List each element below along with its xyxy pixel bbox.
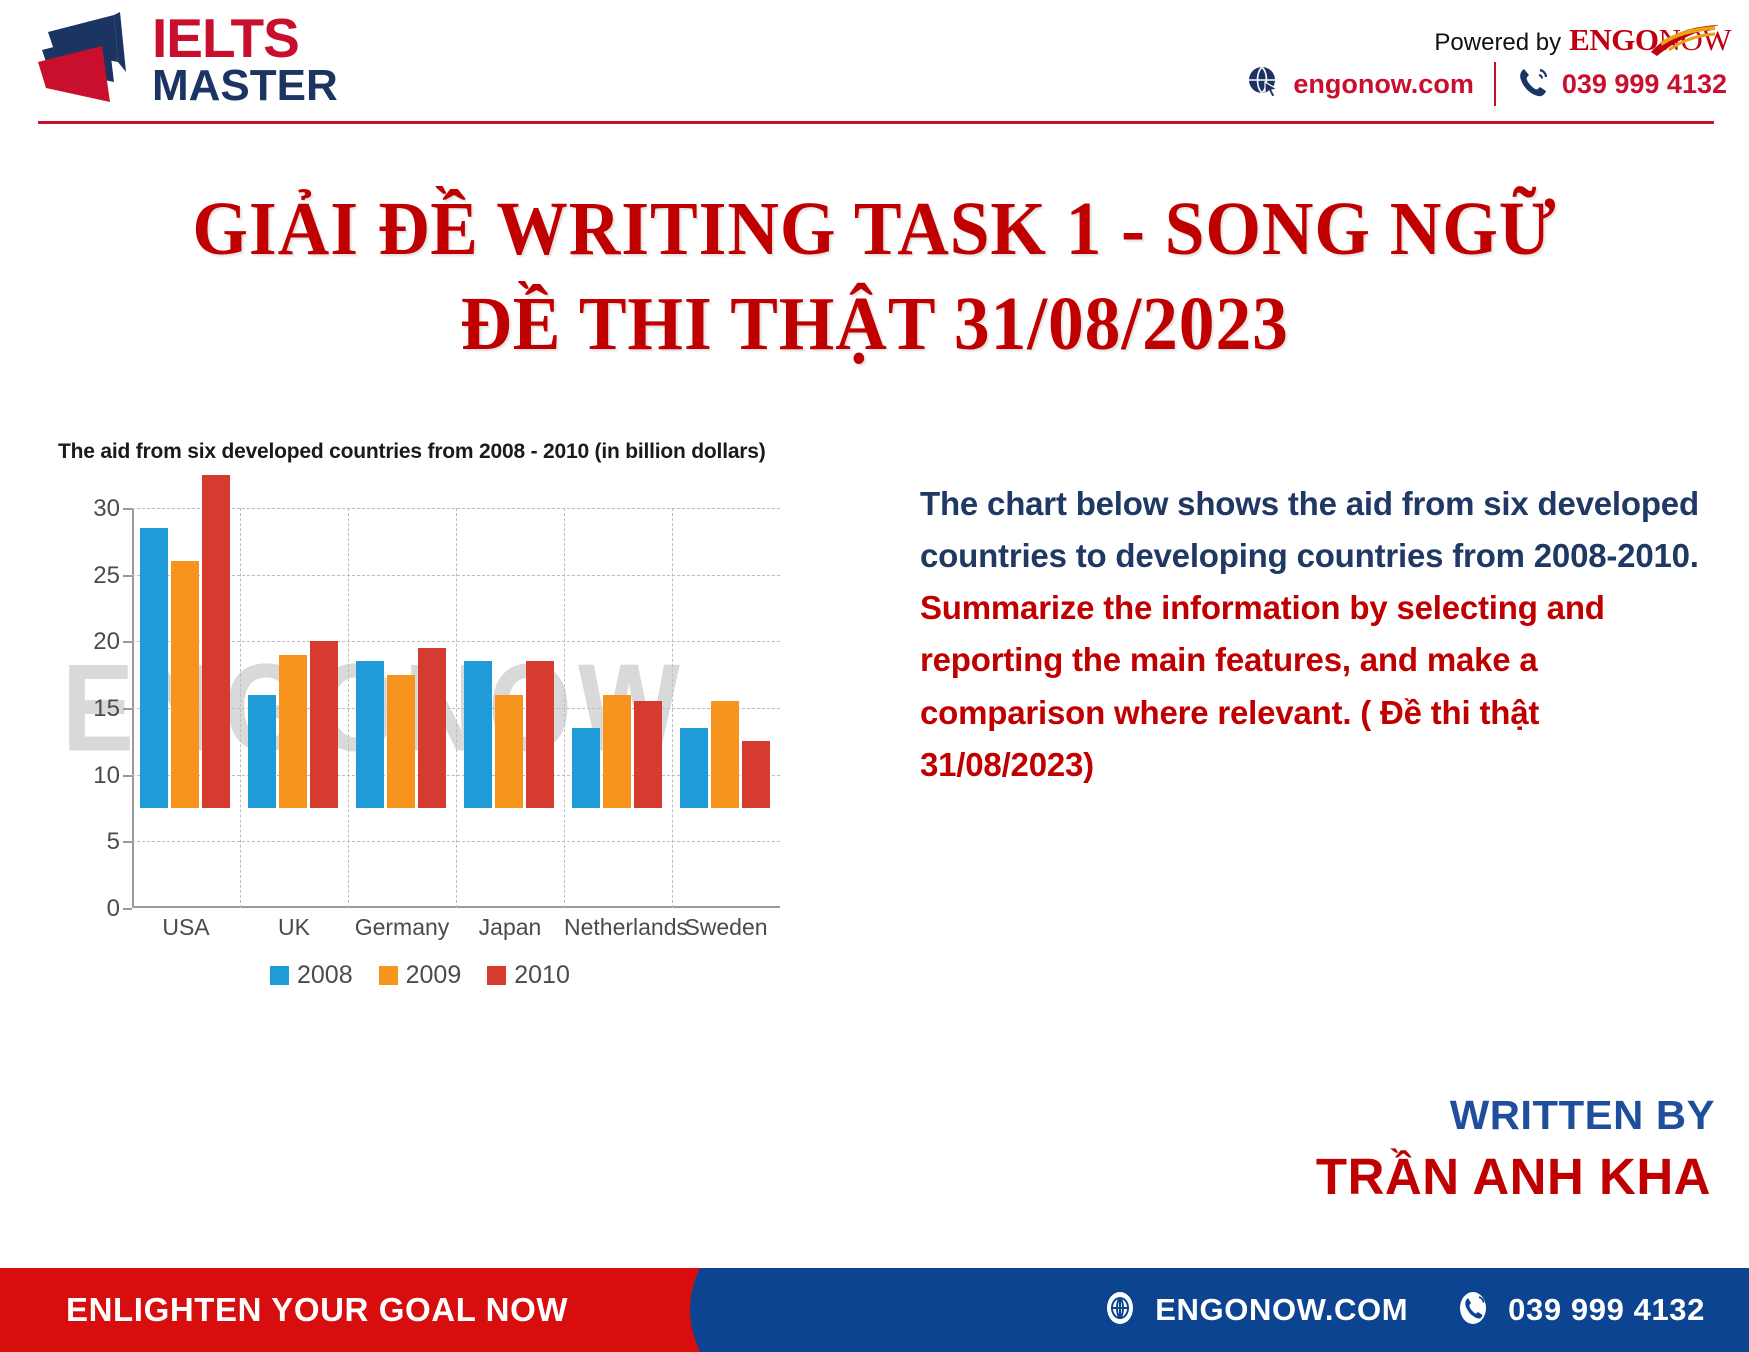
chart-y-tick-mark	[123, 641, 132, 643]
chart-bar-2008-sweden	[680, 728, 708, 808]
chart-x-label-germany: Germany	[348, 914, 456, 941]
globe-icon	[1101, 1289, 1139, 1332]
powered-by-block: Powered by ENGONOW	[1434, 22, 1731, 58]
chart-bar-2008-netherlands	[572, 728, 600, 808]
phone-icon	[1454, 1289, 1492, 1332]
footer-slogan: ENLIGHTEN YOUR GOAL NOW	[66, 1268, 568, 1352]
chart-plot-area: 051015202530USAUKGermanyJapanNetherlands…	[132, 508, 780, 808]
legend-swatch-2009	[379, 966, 398, 985]
brand-logo[interactable]: IELTS MASTER	[36, 10, 338, 110]
chart-legend-item-2009[interactable]: 2009	[379, 961, 462, 990]
footer-phone-text: 039 999 4132	[1508, 1292, 1705, 1328]
written-by-label: WRITTEN BY	[1312, 1092, 1715, 1139]
chart-bar-2009-netherlands	[603, 695, 631, 808]
chart-bar-2008-uk	[248, 695, 276, 808]
chart-bar-2010-usa	[202, 475, 230, 808]
chart-x-label-netherlands: Netherlands	[564, 914, 672, 941]
chart-bar-group	[464, 408, 554, 808]
chart-x-label-sweden: Sweden	[672, 914, 780, 941]
chart-bars-layer	[132, 408, 780, 808]
chart-bar-group	[140, 408, 230, 808]
chart-legend: 200820092010	[270, 961, 570, 990]
chart-y-tick-mark	[123, 775, 132, 777]
chart-bar-group	[572, 408, 662, 808]
chart-x-label-uk: UK	[240, 914, 348, 941]
page-title: GIẢI ĐỀ WRITING TASK 1 - SONG NGỮ ĐỀ THI…	[0, 182, 1749, 372]
task-prompt: The chart below shows the aid from six d…	[920, 478, 1710, 791]
chart-bar-2009-germany	[387, 675, 415, 808]
header-rule	[38, 121, 1714, 124]
chart-bar-2010-sweden	[742, 741, 770, 808]
chart-y-tick-mark	[123, 841, 132, 843]
chart-legend-item-2010[interactable]: 2010	[487, 961, 570, 990]
legend-label-2008: 2008	[297, 961, 353, 990]
engonow-bold-part: ENGO	[1569, 22, 1658, 57]
powered-by-label: Powered by	[1434, 29, 1561, 57]
legend-swatch-2008	[270, 966, 289, 985]
chart-x-label-japan: Japan	[456, 914, 564, 941]
author-credit: WRITTEN BY TRẦN ANH KHA	[1316, 1092, 1711, 1206]
header-phone[interactable]: 039 999 4132	[1516, 65, 1727, 104]
chart-x-label-usa: USA	[132, 914, 240, 941]
chart-bar-2010-uk	[310, 641, 338, 808]
chart-bar-2008-germany	[356, 661, 384, 808]
chart-bar-2008-japan	[464, 661, 492, 808]
header-contact-row: engonow.com 039 999 4132	[1247, 62, 1727, 106]
legend-label-2009: 2009	[406, 961, 462, 990]
chart-bar-group	[356, 408, 446, 808]
chart-bar-2010-netherlands	[634, 701, 662, 808]
page-header: IELTS MASTER Powered by ENGONOW engonow.	[0, 0, 1749, 124]
legend-swatch-2010	[487, 966, 506, 985]
page-footer: ENLIGHTEN YOUR GOAL NOW ENGONOW.COM 039	[0, 1268, 1749, 1352]
bar-chart-figure: The aid from six developed countries fro…	[0, 395, 812, 1005]
header-divider	[1494, 62, 1496, 106]
chart-bar-2009-japan	[495, 695, 523, 808]
swoosh-icon	[1649, 24, 1723, 58]
legend-label-2010: 2010	[514, 961, 570, 990]
chart-bar-2010-japan	[526, 661, 554, 808]
author-name: TRẦN ANH KHA	[1316, 1147, 1711, 1206]
title-line-2: ĐỀ THI THẬT 31/08/2023	[52, 277, 1696, 372]
title-line-1: GIẢI ĐỀ WRITING TASK 1 - SONG NGỮ	[52, 182, 1696, 277]
footer-phone[interactable]: 039 999 4132	[1454, 1289, 1705, 1332]
logo-master-text: MASTER	[152, 65, 338, 106]
footer-contact-row: ENGONOW.COM 039 999 4132	[1101, 1268, 1705, 1352]
chart-bar-2009-uk	[279, 655, 307, 808]
globe-cursor-icon	[1247, 65, 1281, 104]
chart-y-tick-mark	[123, 508, 132, 510]
footer-website-text: ENGONOW.COM	[1155, 1292, 1408, 1328]
chart-bar-2009-sweden	[711, 701, 739, 808]
prompt-red-part: Summarize the information by selecting a…	[920, 589, 1605, 782]
footer-website[interactable]: ENGONOW.COM	[1101, 1289, 1408, 1332]
chart-bar-2008-usa	[140, 528, 168, 808]
chart-y-tick-mark	[123, 708, 132, 710]
header-phone-text: 039 999 4132	[1562, 69, 1727, 100]
header-website-text: engonow.com	[1293, 69, 1474, 100]
logo-wordmark: IELTS MASTER	[152, 13, 338, 106]
chart-bar-2010-germany	[418, 648, 446, 808]
phone-call-icon	[1516, 65, 1550, 104]
chart-y-tick-mark	[123, 908, 132, 910]
chart-legend-item-2008[interactable]: 2008	[270, 961, 353, 990]
chart-y-tick-mark	[123, 575, 132, 577]
chart-bar-2009-usa	[171, 561, 199, 808]
chart-bar-group	[248, 408, 338, 808]
header-website[interactable]: engonow.com	[1247, 65, 1474, 104]
stacked-books-logo-icon	[36, 10, 146, 110]
prompt-navy-part: The chart below shows the aid from six d…	[920, 485, 1699, 574]
logo-ielts-text: IELTS	[152, 7, 299, 69]
chart-bar-group	[680, 408, 770, 808]
